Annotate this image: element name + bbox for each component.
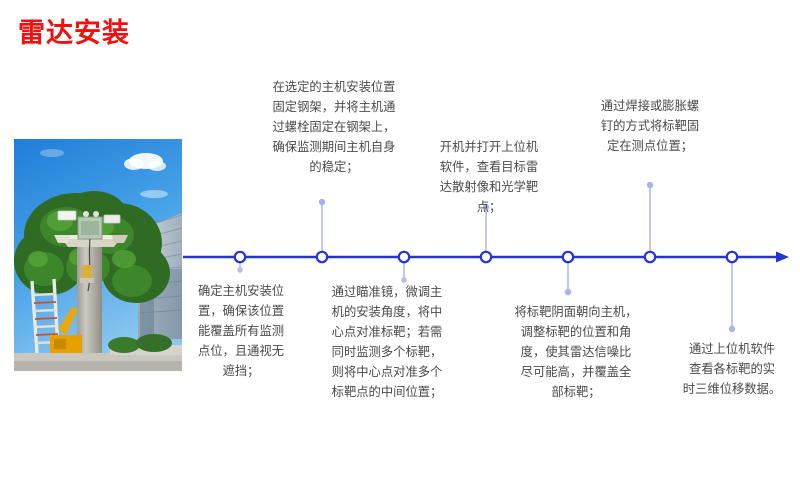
timeline-node-1 (235, 252, 245, 262)
timeline-axis (183, 252, 789, 263)
photo-illustration (14, 139, 182, 371)
step-text-5: 将标靶阴面朝向主机， 调整标靶的位置和角 度，使其雷达信噪比 尽可能高，并覆盖全… (503, 303, 649, 403)
step-text-2: 在选定的主机安装位置 固定钢架，并将主机通 过螺栓固定在钢架上， 确保监测期间主… (253, 78, 415, 178)
step-text-1: 确定主机安装位 置，确保该位置 能覆盖所有监测 点位，且通视无 遮挡； (180, 282, 302, 382)
page-title: 雷达安装 (18, 19, 130, 49)
radar-installation-photo (14, 139, 182, 371)
slide-canvas: 雷达安装 (0, 0, 800, 480)
timeline-node-6 (645, 252, 655, 262)
timeline-node-5 (563, 252, 573, 262)
step-text-6: 通过焊接或膨胀螺 钉的方式将标靶固 定在测点位置； (584, 97, 716, 157)
timeline-node-3 (399, 252, 409, 262)
timeline-nodes (235, 252, 737, 262)
timeline-node-2 (317, 252, 327, 262)
timeline-node-7 (727, 252, 737, 262)
timeline-node-4 (481, 252, 491, 262)
step-text-7: 通过上位机软件 查看各标靶的实 时三维位移数据。 (668, 340, 796, 400)
step-text-4: 开机并打开上位机 软件，查看目标雷 达散射像和光学靶 点； (427, 138, 551, 218)
step-text-3: 通过瞄准镜，微调主 机的安装角度，将中 心点对准标靶；若需 同时监测多个标靶， … (314, 283, 460, 402)
